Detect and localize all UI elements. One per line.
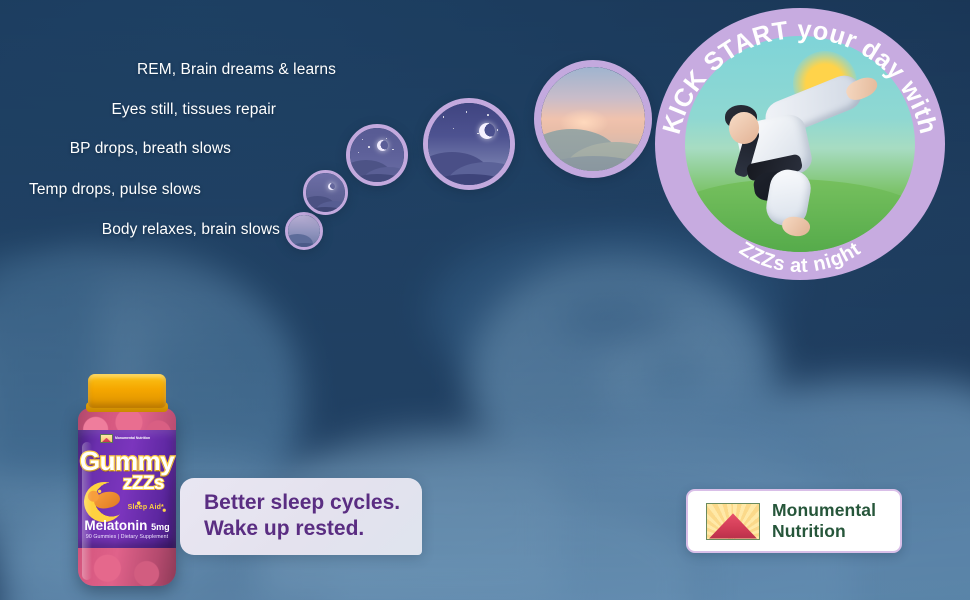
stage-circle-eyes-still [423, 98, 515, 190]
label-mountain-sunrise-icon [100, 434, 113, 443]
brand-name: Monumental Nutrition [772, 500, 876, 541]
label-strength: 5mg [151, 522, 170, 532]
stage-circle-body-relaxes [285, 212, 323, 250]
stage-circle-rem [534, 60, 652, 178]
stage-circle-bp-drops [346, 124, 408, 186]
stage-label-bp-drops: BP drops, breath slows [70, 140, 231, 158]
badge-bottom-textpath: ZZZs at night [735, 238, 864, 277]
label-zzz-accent: zZZs [123, 473, 164, 495]
stage-label-eyes-still: Eyes still, tissues repair [111, 101, 276, 119]
kick-start-badge: KICK START your day with ZZZs at night [655, 8, 945, 280]
bottle-body: Monumental Nutrition Gummy zZZs Sleep Ai… [78, 408, 176, 586]
brand-name-line-1: Monumental [772, 500, 876, 521]
label-ingredient: Melatonin 5mg [84, 518, 169, 533]
tagline-line-1: Better sleep cycles. [204, 490, 400, 516]
brand-logo-box: Monumental Nutrition [686, 489, 902, 553]
brand-name-line-2: Nutrition [772, 521, 876, 542]
label-ingredient-name: Melatonin [84, 518, 147, 533]
bottle-highlight [82, 442, 92, 580]
stage-label-rem: REM, Brain dreams & learns [137, 61, 336, 79]
badge-top-textpath: KICK START your day with [658, 16, 943, 137]
stage-label-body-relaxes: Body relaxes, brain slows [102, 221, 280, 239]
label-count-line: 90 Gummies | Dietary Supplement [86, 534, 168, 540]
label-brand-name: Monumental Nutrition [115, 437, 150, 441]
label-brand-logo: Monumental Nutrition [100, 434, 150, 443]
stage-circle-temp-drops [303, 170, 348, 215]
ad-banner: REM, Brain dreams & learns Eyes still, t… [0, 0, 970, 600]
bottle-cap [88, 374, 166, 408]
tagline-line-2: Wake up rested. [204, 516, 400, 542]
badge-curved-text: KICK START your day with ZZZs at night [655, 8, 945, 280]
badge-top-text: KICK START your day with [658, 16, 943, 137]
stage-label-temp-drops: Temp drops, pulse slows [29, 181, 201, 199]
tagline-callout: Better sleep cycles. Wake up rested. [180, 478, 422, 555]
badge-bottom-text: ZZZs at night [735, 238, 864, 277]
mountain-sunrise-icon [706, 503, 760, 540]
product-bottle[interactable]: Monumental Nutrition Gummy zZZs Sleep Ai… [78, 374, 176, 586]
label-sleep-aid-claim: Sleep Aid* [128, 504, 164, 511]
bottle-label: Monumental Nutrition Gummy zZZs Sleep Ai… [78, 430, 176, 548]
